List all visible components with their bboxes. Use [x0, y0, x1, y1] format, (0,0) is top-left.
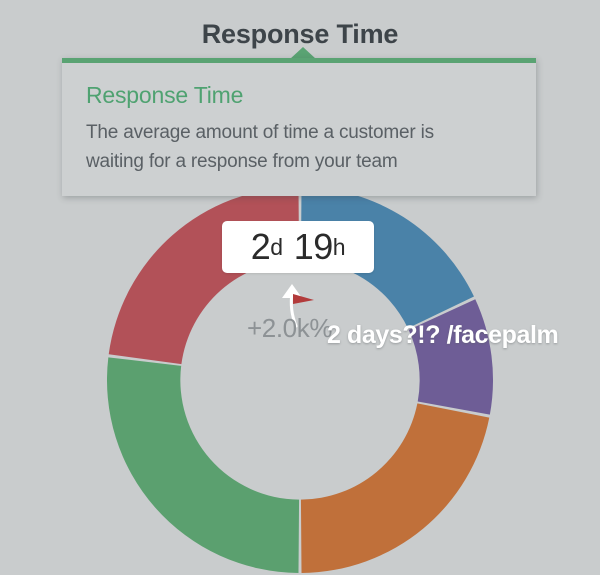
page-title: Response Time — [0, 18, 600, 50]
metric-hours-unit: h — [333, 229, 346, 265]
tooltip-title: Response Time — [86, 81, 512, 109]
red-flag-icon — [293, 294, 314, 304]
metric-days-unit: d — [270, 229, 283, 265]
donut-segment[interactable] — [107, 357, 299, 573]
info-tooltip: Response Time The average amount of time… — [62, 58, 536, 196]
tooltip-body-line-2: waiting for a response from your team — [86, 147, 512, 176]
donut-segment[interactable] — [301, 403, 489, 573]
tooltip-body-line-1: The average amount of time a customer is — [86, 118, 512, 147]
center-value-pill: 2d19h — [222, 221, 374, 273]
metric-days-value: 2 — [251, 229, 271, 265]
user-annotation: 2 days?!? /facepalm — [327, 320, 558, 350]
delta-percentage: +2.0k% — [247, 313, 332, 343]
metric-hours-value: 19 — [294, 229, 333, 265]
